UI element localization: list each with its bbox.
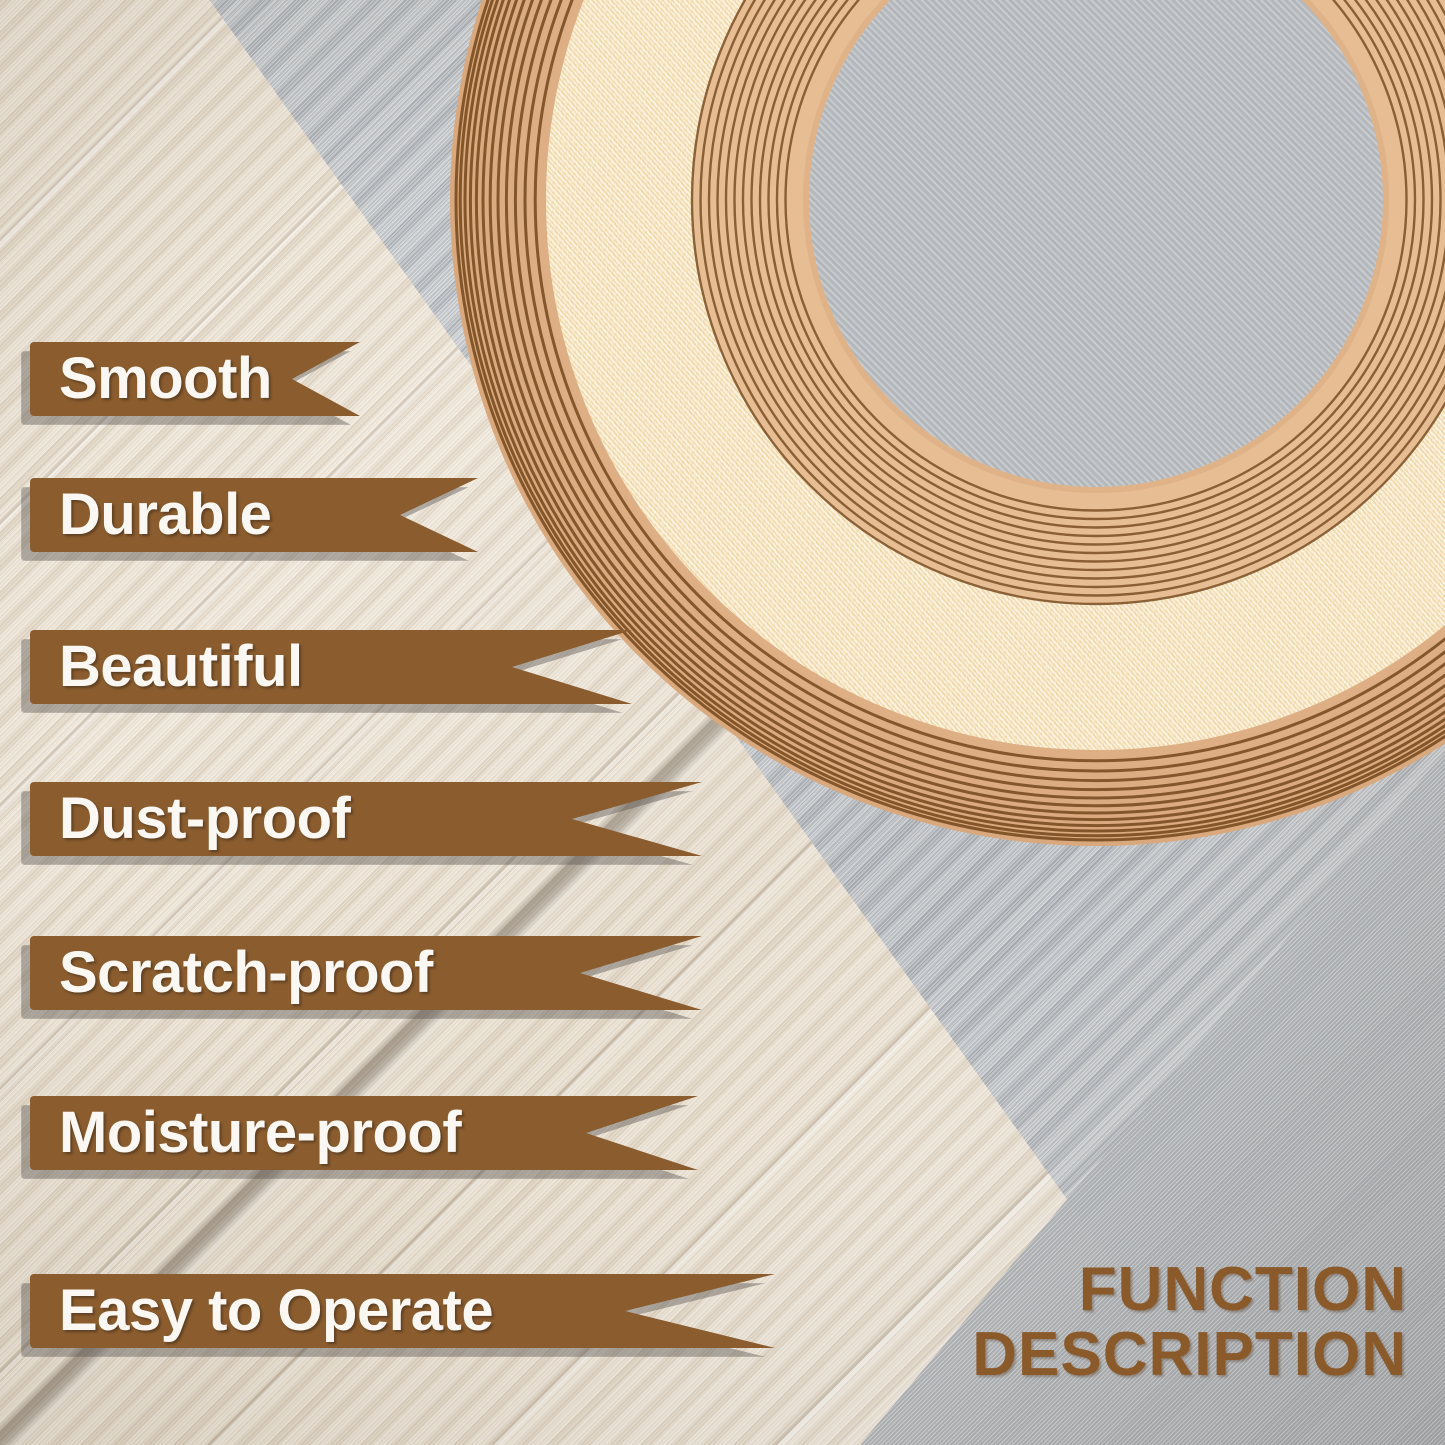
feature-banner: Easy to Operate [30, 1274, 775, 1348]
feature-banner-list: SmoothDurableBeautifulDust-proofScratch-… [0, 0, 820, 1445]
feature-banner-label: Durable [30, 486, 271, 544]
feature-banner: Durable [30, 478, 478, 552]
feature-banner: Smooth [30, 342, 360, 416]
feature-banner-label: Easy to Operate [30, 1282, 493, 1340]
feature-banner-label: Moisture-proof [30, 1104, 461, 1162]
feature-banner-label: Dust-proof [30, 790, 350, 848]
feature-banner: Moisture-proof [30, 1096, 698, 1170]
feature-banner-label: Scratch-proof [30, 944, 433, 1002]
feature-banner-label: Beautiful [30, 638, 303, 696]
function-description-heading: FUNCTION DESCRIPTION [972, 1258, 1407, 1387]
feature-banner: Dust-proof [30, 782, 702, 856]
heading-line-function: FUNCTION [972, 1258, 1407, 1322]
feature-banner: Beautiful [30, 630, 632, 704]
feature-banner-label: Smooth [30, 350, 272, 408]
heading-line-description: DESCRIPTION [972, 1323, 1407, 1387]
feature-banner: Scratch-proof [30, 936, 702, 1010]
product-infographic: SmoothDurableBeautifulDust-proofScratch-… [0, 0, 1445, 1445]
